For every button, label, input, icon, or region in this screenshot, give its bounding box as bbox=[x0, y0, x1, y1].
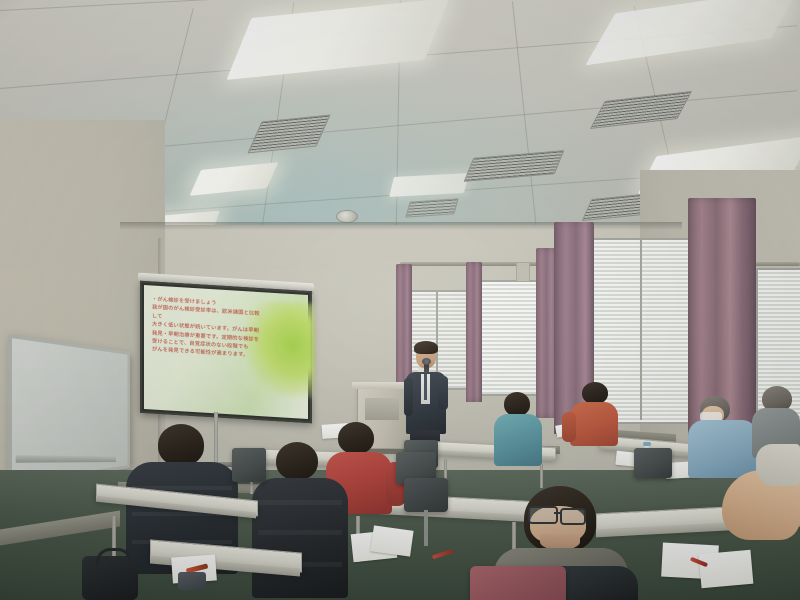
table-leg bbox=[540, 464, 543, 488]
window-mullion-3 bbox=[640, 238, 642, 420]
puffer-seam bbox=[258, 530, 342, 535]
wall-ceiling-junction bbox=[120, 222, 682, 230]
photograph-seminar-room: ・がん検診を受けましょう 我が国のがん検診受診率は、欧米諸国と比較して 大きく低… bbox=[0, 0, 800, 600]
eyeglasses-lens-right bbox=[560, 508, 586, 525]
attendee-front-left-head bbox=[158, 424, 204, 466]
handout-paper-8[interactable] bbox=[699, 550, 754, 588]
lectern-panel bbox=[365, 398, 399, 420]
wall-switch-plate[interactable] bbox=[516, 262, 530, 282]
window-blinds-2[interactable] bbox=[480, 282, 538, 394]
slide-text: ・がん検診を受けましょう 我が国のがん検診受診率は、欧米諸国と比較して 大きく低… bbox=[152, 295, 264, 361]
whiteboard[interactable] bbox=[8, 334, 130, 487]
microphone-head bbox=[422, 358, 431, 365]
curtain-2[interactable] bbox=[466, 262, 482, 402]
chair-middle-1[interactable] bbox=[232, 448, 266, 482]
attendee-orange-shirt-arm bbox=[562, 412, 576, 442]
window-2 bbox=[478, 280, 540, 396]
eyeglass-case[interactable] bbox=[178, 572, 206, 590]
eyeglasses-lens-left bbox=[528, 506, 558, 524]
presenter-arm-right bbox=[438, 376, 448, 410]
handout-paper-5[interactable] bbox=[370, 525, 413, 556]
bag-strap bbox=[96, 548, 132, 565]
window-blinds-3[interactable] bbox=[594, 240, 690, 422]
attendee-teal-body bbox=[494, 414, 542, 466]
whiteboard-marker-tray bbox=[16, 455, 116, 463]
chair-leg bbox=[424, 510, 428, 546]
chair-back-row-2[interactable] bbox=[634, 448, 672, 478]
presenter-tie bbox=[424, 374, 427, 400]
projection-screen: ・がん検診を受けましょう 我が国のがん検診受診率は、欧米諸国と比較して 大きく低… bbox=[140, 281, 312, 424]
projection-screen-surface: ・がん検診を受けましょう 我が国のがん検診受診率は、欧米諸国と比較して 大きく低… bbox=[144, 285, 308, 419]
chair-foreground-maroon[interactable] bbox=[470, 566, 566, 600]
screen-stand-pole bbox=[214, 412, 218, 468]
presenter-hair bbox=[414, 341, 438, 354]
attendee-orange-shirt-body bbox=[570, 402, 618, 446]
chair-middle-3[interactable] bbox=[404, 478, 448, 512]
attendee-front-center-head bbox=[276, 442, 318, 480]
attendee-front-center-body bbox=[252, 478, 348, 598]
attendee-red-head bbox=[338, 422, 374, 454]
ceiling-light-6 bbox=[389, 173, 469, 197]
presenter-arm-left bbox=[404, 378, 413, 416]
attendee-light-blue-body bbox=[688, 420, 758, 478]
puffer-seam bbox=[258, 500, 342, 505]
water-bottle-cap bbox=[643, 442, 651, 446]
attendee-orange-shirt-head bbox=[582, 382, 608, 404]
attendee-teal-head bbox=[504, 392, 530, 416]
eyeglasses-bridge bbox=[554, 512, 560, 514]
attendee-far-right-sleeve bbox=[756, 444, 800, 486]
